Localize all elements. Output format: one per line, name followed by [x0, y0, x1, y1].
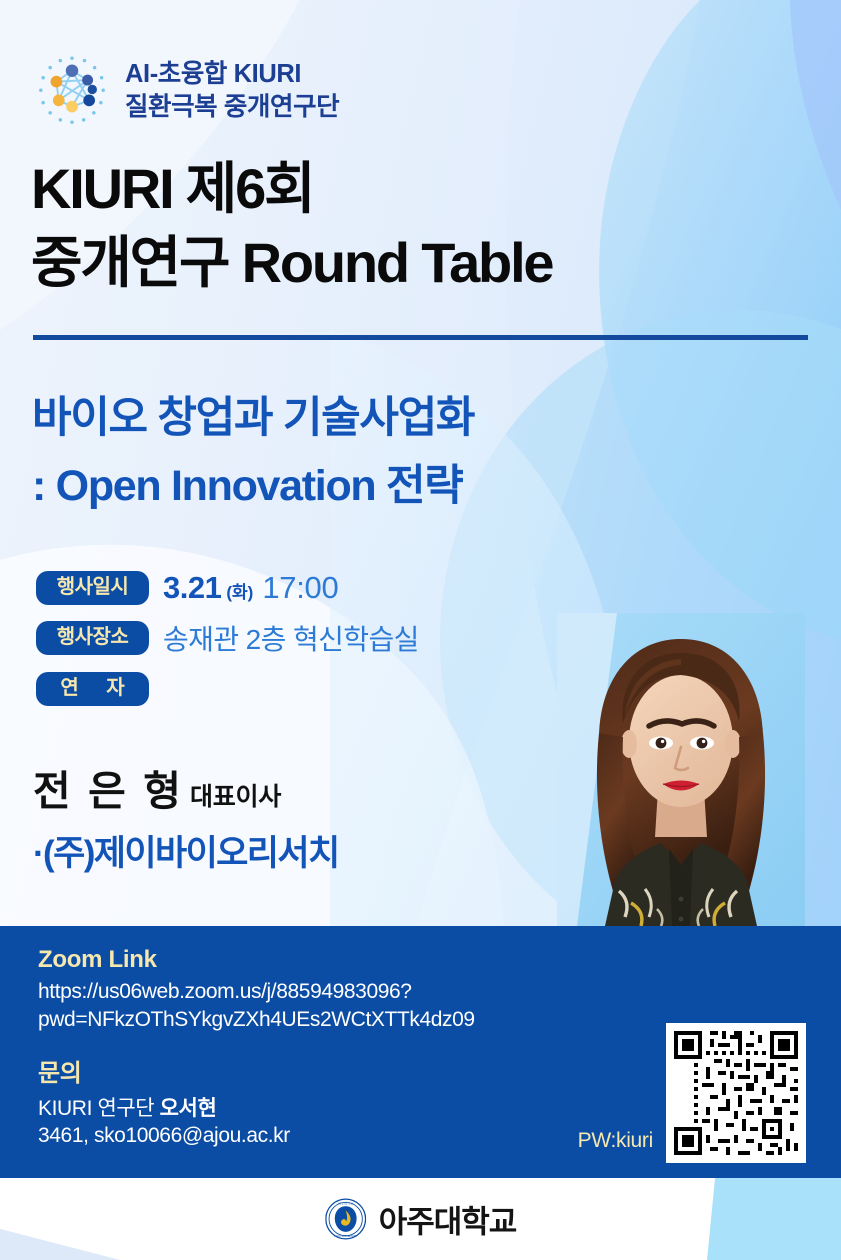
network-nodes-icon [33, 52, 111, 130]
event-time: 17:00 [262, 570, 338, 606]
zoom-url-line-1[interactable]: https://us06web.zoom.us/j/88594983096? [38, 978, 475, 1006]
poster-root: AI-초융합 KIURI 질환극복 중개연구단 KIURI 제6회 중개연구 R… [0, 0, 841, 1260]
speaker-name: 전 은 형 [33, 757, 184, 817]
footer-corner-shape-left [0, 1218, 120, 1260]
svg-text:AJOU UNIVERSITY: AJOU UNIVERSITY [334, 1234, 357, 1238]
event-place: 송재관 2층 혁신학습실 [163, 618, 419, 658]
event-info: 행사일시 3.21 (화) 17:00 행사장소 송재관 2층 혁신학습실 연 … [36, 570, 419, 718]
info-row-datetime: 행사일시 3.21 (화) 17:00 [36, 570, 419, 606]
zoom-password: PW:kiuri [578, 1129, 653, 1153]
ajou-university-seal-icon: 아 주 대 학 교 AJOU UNIVERSITY [325, 1199, 366, 1240]
speaker-name-row: 전 은 형 대표이사 [33, 757, 339, 817]
band-content: Zoom Link https://us06web.zoom.us/j/8859… [38, 946, 475, 1150]
brand-text: AI-초융합 KIURI 질환극복 중개연구단 [125, 58, 339, 123]
page-title: KIURI 제6회 중개연구 Round Table [31, 152, 552, 301]
speaker-role: 대표이사 [190, 777, 281, 813]
subtitle-line-2: : Open Innovation 전략 [32, 452, 474, 520]
inquiry-heading: 문의 [38, 1053, 475, 1088]
band-spacer [38, 1033, 475, 1053]
brand-line-1: AI-초융합 KIURI [125, 58, 339, 91]
subtitle-line-1: 바이오 창업과 기술사업화 [32, 384, 474, 452]
contact-name-row: KIURI 연구단 오서현 [38, 1092, 475, 1122]
contact-org: KIURI 연구단 [38, 1097, 160, 1120]
title-divider [33, 335, 808, 340]
footer-corner-shape-right [707, 1178, 841, 1260]
brand-logo: AI-초융합 KIURI 질환극복 중개연구단 [33, 52, 339, 130]
place-value-wrap: 송재관 2층 혁신학습실 [163, 618, 419, 658]
contact-detail[interactable]: 3461, sko10066@ajou.ac.kr [38, 1122, 475, 1150]
badge-speaker: 연 자 [36, 672, 149, 706]
speaker-organization: ·(주)제이바이오리서치 [33, 825, 339, 876]
page-footer: 아 주 대 학 교 AJOU UNIVERSITY 아주대학교 [0, 1178, 841, 1260]
badge-place: 행사장소 [36, 621, 149, 655]
zoom-url-line-2[interactable]: pwd=NFkzOThSYkgvZXh4UEs2WCtXTTk4dz09 [38, 1006, 475, 1034]
info-row-speaker: 연 자 [36, 672, 419, 706]
svg-text:아 주 대 학 교: 아 주 대 학 교 [338, 1201, 353, 1205]
university-logo: 아 주 대 학 교 AJOU UNIVERSITY 아주대학교 [325, 1197, 517, 1242]
qr-code[interactable] [666, 1023, 806, 1163]
zoom-link-heading: Zoom Link [38, 946, 475, 974]
info-row-place: 행사장소 송재관 2층 혁신학습실 [36, 618, 419, 658]
badge-datetime: 행사일시 [36, 571, 149, 605]
datetime-value: 3.21 (화) 17:00 [163, 570, 338, 606]
subtitle: 바이오 창업과 기술사업화 : Open Innovation 전략 [32, 384, 474, 521]
title-line-1: KIURI 제6회 [31, 152, 552, 226]
contact-band: Zoom Link https://us06web.zoom.us/j/8859… [0, 926, 841, 1178]
title-line-2: 중개연구 Round Table [31, 226, 552, 300]
brand-line-2: 질환극복 중개연구단 [125, 91, 339, 124]
event-weekday: (화) [226, 578, 253, 603]
event-date: 3.21 [163, 570, 221, 606]
speaker-portrait [557, 613, 805, 926]
contact-person: 오서현 [160, 1097, 217, 1120]
speaker-info: 전 은 형 대표이사 ·(주)제이바이오리서치 [33, 757, 339, 876]
university-name: 아주대학교 [379, 1197, 517, 1242]
